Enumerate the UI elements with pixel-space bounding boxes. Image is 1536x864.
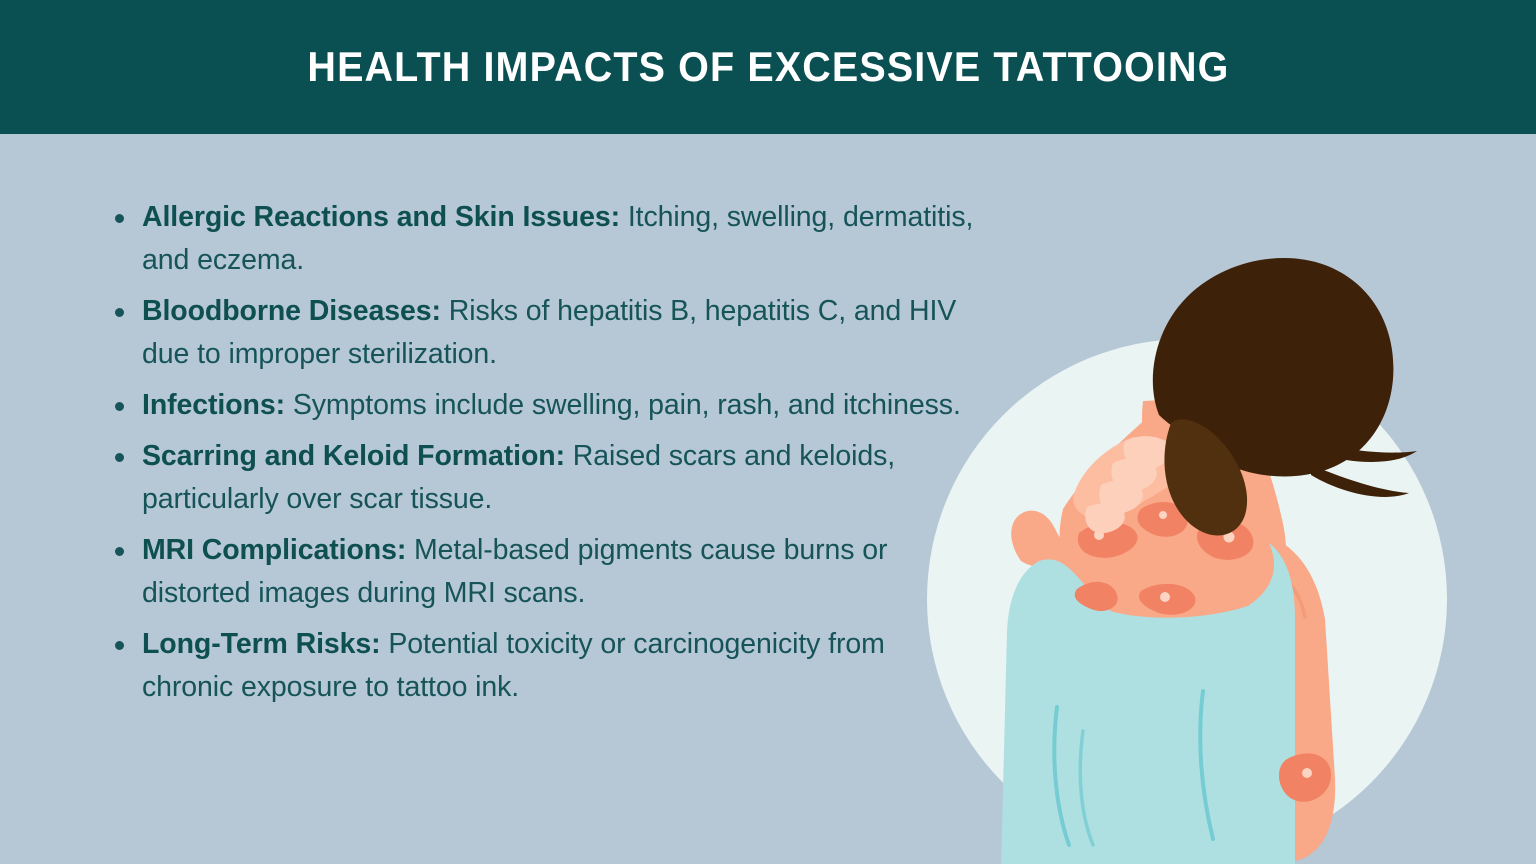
page-header: Health Impacts of Excessive Tattooing [0, 0, 1536, 134]
list-item-term: Allergic Reactions and Skin Issues: [142, 201, 620, 233]
list-item-term: Infections: [142, 389, 285, 421]
list-item-term: Bloodborne Diseases: [142, 295, 441, 327]
list-item-term: MRI Complications: [142, 534, 406, 566]
list-item-term: Scarring and Keloid Formation: [142, 440, 565, 472]
content-area: Allergic Reactions and Skin Issues: Itch… [0, 134, 1536, 864]
woman-scratching-neck-illustration [825, 179, 1525, 864]
list-item-term: Long-Term Risks: [142, 628, 381, 660]
page-title: Health Impacts of Excessive Tattooing [307, 43, 1229, 91]
